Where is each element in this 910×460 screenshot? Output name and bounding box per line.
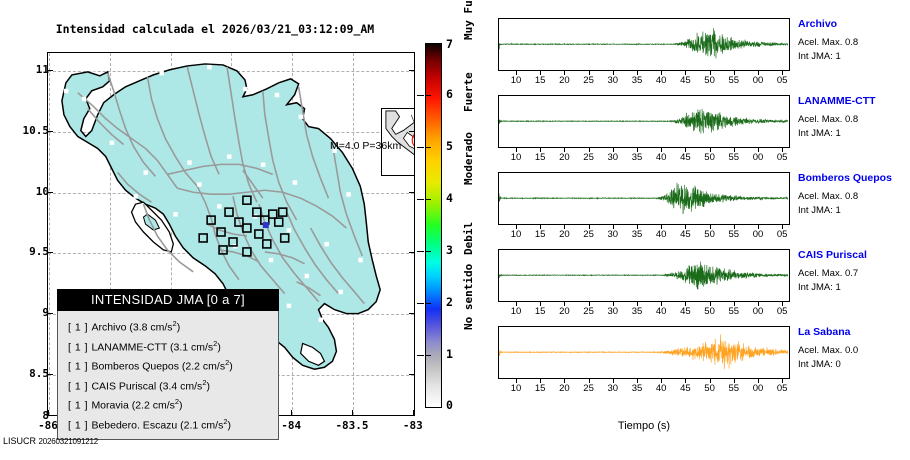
station-acceleration: Acel. Max. 0.0 — [798, 345, 910, 356]
waveform-tick-label: 05 — [770, 152, 794, 163]
waveform-tick-label: 20 — [552, 383, 576, 394]
colorbar-tick — [426, 355, 431, 356]
waveform-tick-label: 10 — [504, 75, 528, 86]
x-tick — [413, 410, 414, 416]
colorbar-tick — [417, 355, 424, 356]
y-axis-label: 8.5 — [9, 367, 49, 380]
colorbar-value: 4 — [446, 191, 453, 205]
waveform-row: 101520253035404550550005LANAMME-CTTAcel.… — [486, 95, 910, 158]
station-acceleration: Acel. Max. 0.8 — [798, 114, 910, 125]
waveform-tick-label: 30 — [601, 75, 625, 86]
legend-row: [ 1 ] Archivo (3.8 cm/s2) — [58, 316, 278, 336]
x-tick — [352, 410, 353, 416]
waveform-tick-label: 15 — [528, 75, 552, 86]
colorbar-category: Debil — [462, 222, 475, 255]
legend-intensity-bracket: [ 1 ] — [68, 380, 91, 392]
waveform-tick-label: 25 — [577, 229, 601, 240]
waveform-tick-label: 55 — [722, 75, 746, 86]
waveform-tick-label: 35 — [625, 383, 649, 394]
legend-close-paren: ) — [177, 322, 181, 334]
colorbar-tick — [417, 251, 424, 252]
intensity-legend: INTENSIDAD JMA [0 a 7] [ 1 ] Archivo (3.… — [57, 289, 279, 440]
station-name-link[interactable]: Archivo — [798, 18, 910, 30]
legend-row: [ 1 ] CAIS Puriscal (3.4 cm/s2) — [58, 375, 278, 395]
waveform-plot[interactable] — [498, 95, 790, 148]
watermark: LISUCR 20260321091212 — [3, 436, 98, 446]
waveform-tick-label: 40 — [649, 306, 673, 317]
waveform-tick-label: 25 — [577, 152, 601, 163]
colorbar-tick — [426, 147, 431, 148]
intensity-colorbar — [425, 43, 442, 408]
waveform-tick-label: 05 — [770, 75, 794, 86]
colorbar-category: Fuerte — [462, 72, 475, 112]
y-tick — [409, 374, 415, 375]
colorbar-tick — [426, 199, 431, 200]
waveform-tick-label: 50 — [698, 229, 722, 240]
waveform-tick-label: 40 — [649, 75, 673, 86]
waveform-tick-label: 15 — [528, 229, 552, 240]
y-tick — [409, 131, 415, 132]
waveform-tick-label: 25 — [577, 306, 601, 317]
y-axis-label: 9 — [9, 306, 49, 319]
x-axis-label: -83 — [383, 419, 443, 432]
y-axis-label: 9.5 — [9, 245, 49, 258]
colorbar-tick — [426, 95, 431, 96]
waveform-plot[interactable] — [498, 172, 790, 225]
time-axis-label: Tiempo (s) — [498, 420, 790, 432]
x-tick — [48, 410, 49, 416]
watermark-org: LISUCR — [3, 436, 39, 446]
waveform-tick-label: 30 — [601, 152, 625, 163]
station-jma-intensity: Int JMA: 1 — [798, 205, 910, 216]
waveform-tick-label: 30 — [601, 383, 625, 394]
waveform-tick-label: 05 — [770, 229, 794, 240]
colorbar-category: No sentido — [462, 264, 475, 330]
station-jma-intensity: Int JMA: 1 — [798, 128, 910, 139]
legend-station-name: Bomberos Quepos (2.2 cm/s — [91, 361, 225, 373]
station-name-link[interactable]: Bomberos Quepos — [798, 172, 910, 184]
waveform-tick-label: 05 — [770, 383, 794, 394]
legend-station-name: LANAMME-CTT (3.1 cm/s — [91, 341, 213, 353]
legend-station-list: [ 1 ] Archivo (3.8 cm/s2)[ 1 ] LANAMME-C… — [57, 311, 279, 440]
waveform-tick-label: 50 — [698, 306, 722, 317]
station-acceleration: Acel. Max. 0.7 — [798, 268, 910, 279]
station-name-link[interactable]: La Sabana — [798, 326, 910, 338]
waveform-tick-labels: 101520253035404550550005 — [498, 152, 790, 164]
waveform-tick-label: 35 — [625, 152, 649, 163]
station-acceleration: Acel. Max. 0.8 — [798, 37, 910, 48]
waveform-tick-label: 20 — [552, 152, 576, 163]
waveform-tick-label: 50 — [698, 152, 722, 163]
waveform-info: La SabanaAcel. Max. 0.0Int JMA: 0 — [798, 326, 910, 370]
legend-station-name: Bebedero. Escazu (2.1 cm/s — [91, 419, 223, 431]
waveform-tick-label: 20 — [552, 75, 576, 86]
magnitude-depth-label: M=4.0 P=36km — [330, 140, 401, 152]
waveform-tick-label: 15 — [528, 306, 552, 317]
waveform-row: 101520253035404550550005Bomberos QueposA… — [486, 172, 910, 235]
waveform-tick-label: 45 — [673, 75, 697, 86]
y-axis-label: 10 — [9, 185, 49, 198]
waveform-tick-label: 10 — [504, 306, 528, 317]
colorbar-value: 1 — [446, 347, 453, 361]
waveform-info: LANAMME-CTTAcel. Max. 0.8Int JMA: 1 — [798, 95, 910, 139]
waveform-tick-label: 30 — [601, 306, 625, 317]
waveform-tick-label: 00 — [746, 383, 770, 394]
waveform-tick-label: 35 — [625, 306, 649, 317]
station-name-link[interactable]: CAIS Puriscal — [798, 249, 910, 261]
waveform-tick-label: 55 — [722, 306, 746, 317]
waveform-tick-label: 35 — [625, 229, 649, 240]
legend-close-paren: ) — [217, 341, 221, 353]
waveform-tick-label: 15 — [528, 383, 552, 394]
waveform-tick-label: 00 — [746, 152, 770, 163]
station-jma-intensity: Int JMA: 1 — [798, 51, 910, 62]
station-acceleration: Acel. Max. 0.8 — [798, 191, 910, 202]
colorbar-tick — [426, 303, 431, 304]
legend-station-name: CAIS Puriscal (3.4 cm/s — [91, 380, 202, 392]
colorbar-tick — [417, 199, 424, 200]
legend-row: [ 1 ] Bebedero. Escazu (2.1 cm/s2) — [58, 414, 278, 434]
legend-close-paren: ) — [206, 380, 210, 392]
legend-close-paren: ) — [228, 419, 232, 431]
watermark-code: 20260321091212 — [39, 437, 99, 446]
waveform-tick-label: 45 — [673, 383, 697, 394]
y-tick — [409, 252, 415, 253]
y-tick — [409, 70, 415, 71]
waveform-info: ArchivoAcel. Max. 0.8Int JMA: 1 — [798, 18, 910, 62]
x-tick — [291, 410, 292, 416]
colorbar-tick — [426, 251, 431, 252]
legend-close-paren: ) — [179, 400, 183, 412]
colorbar-tick — [417, 147, 424, 148]
waveform-row: 101520253035404550550005La SabanaAcel. M… — [486, 326, 910, 389]
colorbar-value: 3 — [446, 243, 453, 257]
y-tick — [409, 192, 415, 193]
waveform-tick-label: 45 — [673, 229, 697, 240]
waveform-tick-label: 10 — [504, 229, 528, 240]
waveform-tick-label: 55 — [722, 383, 746, 394]
waveform-plot[interactable] — [498, 18, 790, 71]
waveform-tick-label: 45 — [673, 152, 697, 163]
waveform-tick-label: 30 — [601, 229, 625, 240]
waveform-tick-label: 45 — [673, 306, 697, 317]
waveform-tick-label: 40 — [649, 229, 673, 240]
colorbar-value: 0 — [446, 398, 453, 412]
colorbar-value: 7 — [446, 37, 453, 51]
station-jma-intensity: Int JMA: 1 — [798, 282, 910, 293]
legend-intensity-bracket: [ 1 ] — [68, 322, 91, 334]
colorbar-value: 2 — [446, 295, 453, 309]
waveform-tick-label: 55 — [722, 229, 746, 240]
legend-close-paren: ) — [229, 361, 233, 373]
legend-intensity-bracket: [ 1 ] — [68, 400, 91, 412]
waveform-tick-label: 40 — [649, 152, 673, 163]
waveform-tick-label: 10 — [504, 152, 528, 163]
colorbar-value: 6 — [446, 87, 453, 101]
waveform-tick-label: 25 — [577, 383, 601, 394]
waveform-tick-label: 00 — [746, 306, 770, 317]
waveform-tick-label: 15 — [528, 152, 552, 163]
waveform-tick-label: 40 — [649, 383, 673, 394]
y-axis-label: 11 — [9, 63, 49, 76]
legend-title: INTENSIDAD JMA [0 a 7] — [57, 289, 279, 311]
waveform-tick-labels: 101520253035404550550005 — [498, 75, 790, 87]
waveform-tick-label: 00 — [746, 229, 770, 240]
legend-intensity-bracket: [ 1 ] — [68, 361, 91, 373]
waveform-plot[interactable] — [498, 249, 790, 302]
waveform-panel-column: 101520253035404550550005ArchivoAcel. Max… — [486, 0, 910, 460]
waveform-tick-labels: 101520253035404550550005 — [498, 229, 790, 241]
waveform-tick-label: 35 — [625, 75, 649, 86]
legend-intensity-bracket: [ 1 ] — [68, 341, 91, 353]
y-tick — [409, 313, 415, 314]
station-jma-intensity: Int JMA: 0 — [798, 359, 910, 370]
waveform-tick-labels: 101520253035404550550005 — [498, 383, 790, 395]
waveform-tick-label: 00 — [746, 75, 770, 86]
colorbar-tick — [417, 303, 424, 304]
colorbar-value: 5 — [446, 139, 453, 153]
waveform-tick-label: 10 — [504, 383, 528, 394]
colorbar-tick — [417, 95, 424, 96]
waveform-row: 101520253035404550550005ArchivoAcel. Max… — [486, 18, 910, 81]
waveform-tick-labels: 101520253035404550550005 — [498, 306, 790, 318]
waveform-tick-label: 50 — [698, 75, 722, 86]
station-name-link[interactable]: LANAMME-CTT — [798, 95, 910, 107]
colorbar-category: Muy Fuerte — [462, 0, 475, 40]
waveform-tick-label: 20 — [552, 306, 576, 317]
legend-row: [ 1 ] LANAMME-CTT (3.1 cm/s2) — [58, 336, 278, 356]
epicenter-marker — [263, 222, 269, 228]
legend-station-name: Moravia (2.2 cm/s — [91, 400, 174, 412]
waveform-info: CAIS PuriscalAcel. Max. 0.7Int JMA: 1 — [798, 249, 910, 293]
page-title: Intensidad calculada el 2026/03/21_03:12… — [0, 22, 430, 36]
waveform-row: 101520253035404550550005CAIS PuriscalAce… — [486, 249, 910, 312]
legend-row: [ 1 ] Moravia (2.2 cm/s2) — [58, 394, 278, 414]
waveform-tick-label: 20 — [552, 229, 576, 240]
waveform-tick-label: 25 — [577, 75, 601, 86]
waveform-tick-label: 50 — [698, 383, 722, 394]
waveform-tick-label: 05 — [770, 306, 794, 317]
legend-row: [ 1 ] Bomberos Quepos (2.2 cm/s2) — [58, 355, 278, 375]
colorbar-category: Moderado — [462, 132, 475, 185]
waveform-tick-label: 55 — [722, 152, 746, 163]
intensity-map-panel: Intensidad calculada el 2026/03/21_03:12… — [0, 0, 470, 460]
waveform-plot[interactable] — [498, 326, 790, 379]
y-axis-label: 10.5 — [9, 124, 49, 137]
legend-station-name: Archivo (3.8 cm/s — [91, 322, 172, 334]
waveform-info: Bomberos QueposAcel. Max. 0.8Int JMA: 1 — [798, 172, 910, 216]
legend-intensity-bracket: [ 1 ] — [68, 419, 91, 431]
x-axis-label: -83.5 — [322, 419, 382, 432]
